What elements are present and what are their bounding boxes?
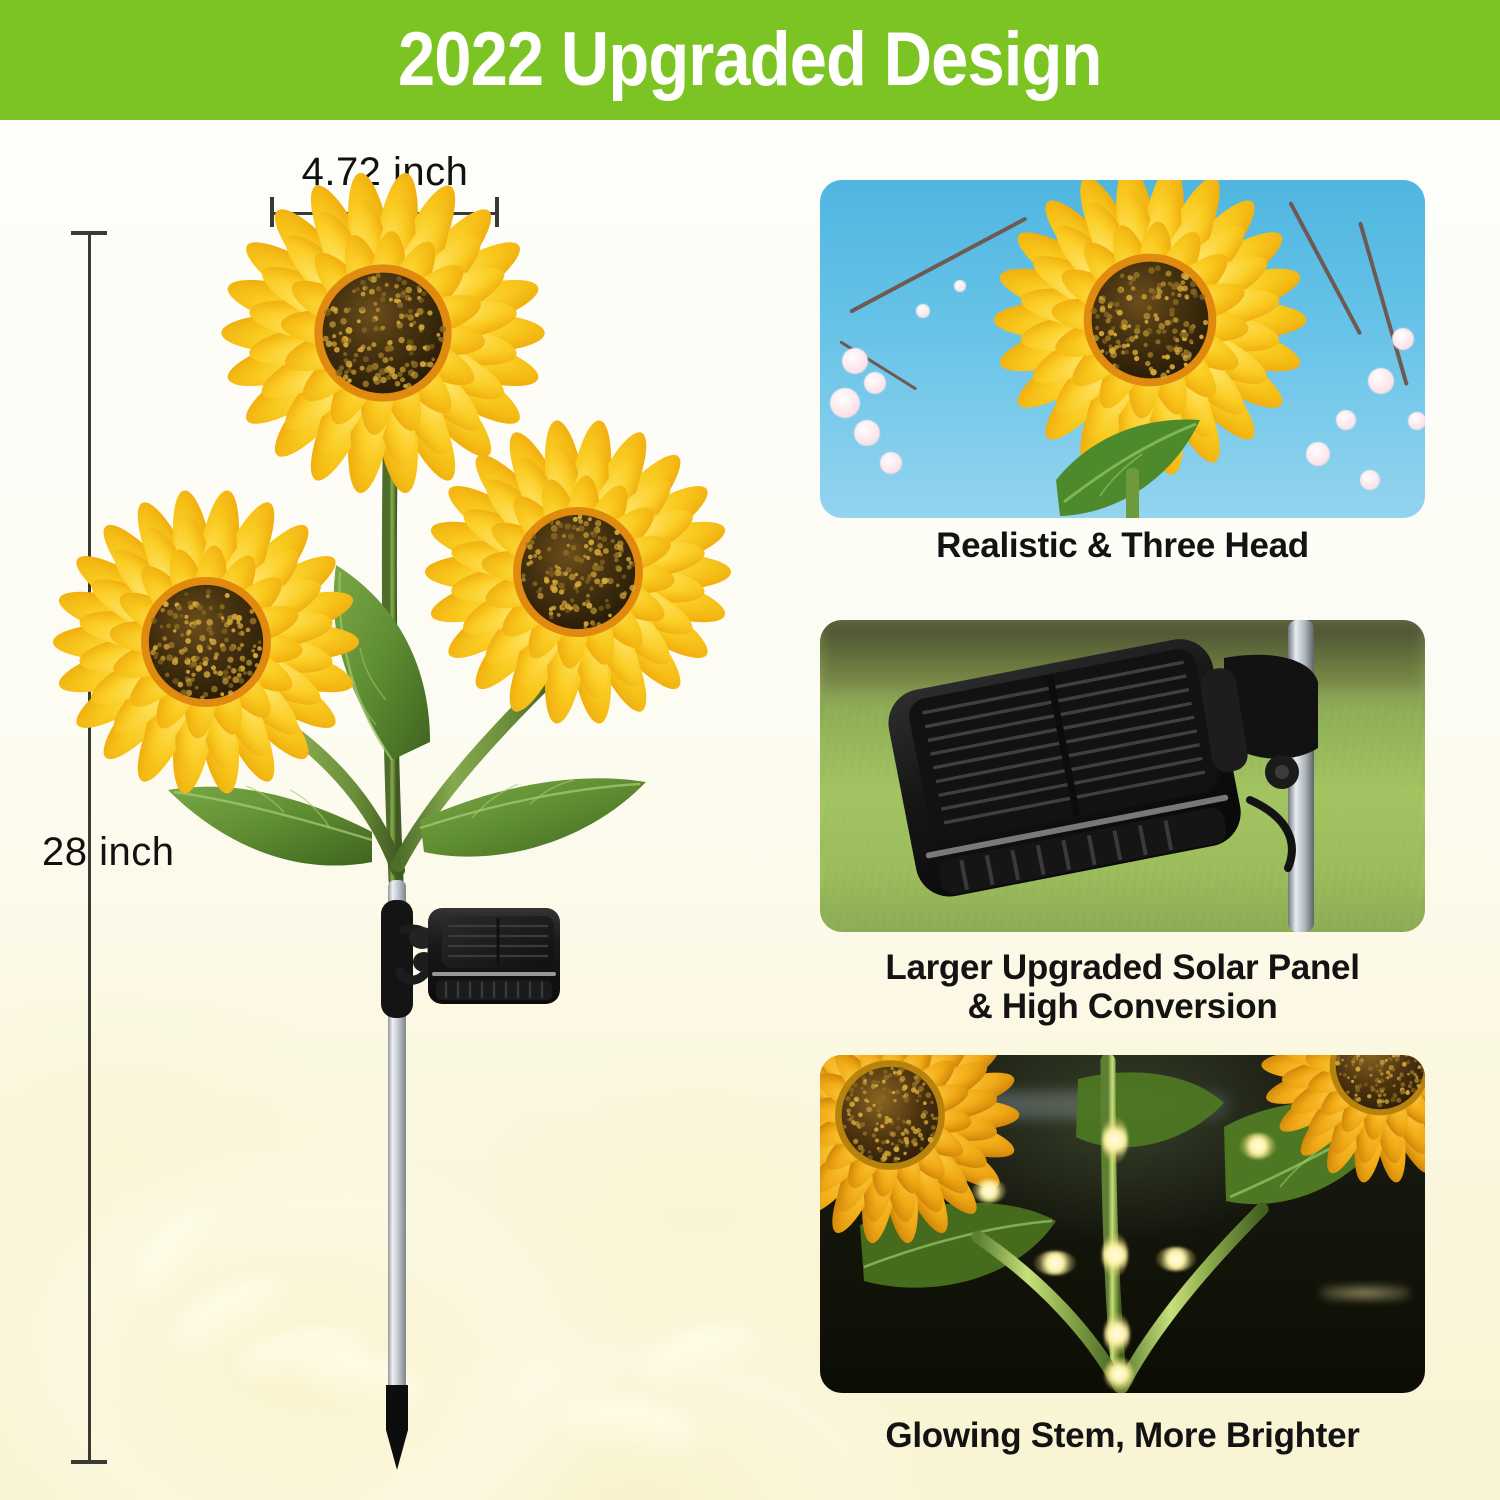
led-node — [1104, 1313, 1130, 1355]
card1-sunflower — [820, 180, 1425, 518]
card-glowing-stem — [820, 1055, 1425, 1393]
card2-caption-line: Larger Upgraded Solar Panel — [820, 948, 1425, 987]
led-node — [1240, 1133, 1276, 1159]
card2-solar-panel — [820, 620, 1425, 932]
card-larger-solar-panel — [820, 620, 1425, 932]
stake-tip — [386, 1385, 408, 1470]
solar-panel-box — [428, 908, 560, 1004]
led-node — [1102, 1233, 1128, 1277]
sunflower-head — [221, 170, 544, 496]
card2-caption: Larger Upgraded Solar Panel & High Conve… — [820, 948, 1425, 1026]
led-node — [1156, 1247, 1196, 1271]
leaf — [168, 786, 372, 866]
product-svg — [0, 0, 760, 1500]
led-node — [1104, 1357, 1134, 1391]
leaf — [334, 565, 430, 760]
card-realistic-three-head — [820, 180, 1425, 518]
product-illustration — [0, 0, 760, 1500]
sunflower-head — [425, 418, 731, 726]
card1-caption-line: Realistic & Three Head — [820, 526, 1425, 565]
led-node — [1102, 1117, 1128, 1163]
led-node — [972, 1179, 1006, 1203]
card3-caption-line: Glowing Stem, More Brighter — [820, 1416, 1425, 1455]
card1-caption: Realistic & Three Head — [820, 526, 1425, 565]
solar-mount-collar — [381, 900, 435, 1018]
card2-caption-line: & High Conversion — [820, 987, 1425, 1026]
led-node — [1034, 1251, 1076, 1275]
product-infographic: 2022 Upgraded Design 4.72 inch 28 inch — [0, 0, 1500, 1500]
card3-caption: Glowing Stem, More Brighter — [820, 1416, 1425, 1455]
